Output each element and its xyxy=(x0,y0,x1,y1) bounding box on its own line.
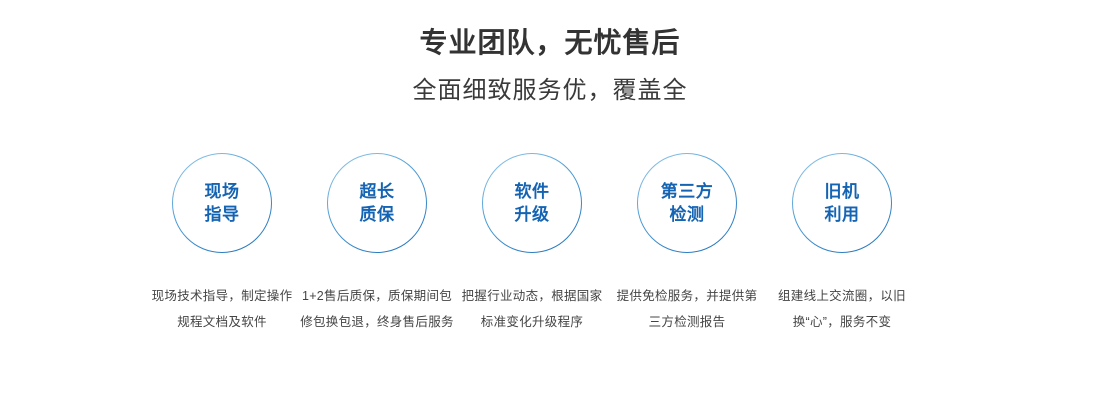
circle-label-3: 软件 升级 xyxy=(515,180,550,226)
caption-text-4: 提供免检服务，并提供第 三方检测报告 xyxy=(600,283,775,335)
feature-circle-item-2[interactable]: 超长 质保 xyxy=(327,153,427,253)
feature-caption-item-3: 把握行业动态，根据国家 标准变化升级程序 xyxy=(445,283,620,335)
circle-outline-1: 现场 指导 xyxy=(172,153,272,253)
feature-circle-item-4[interactable]: 第三方 检测 xyxy=(637,153,737,253)
feature-caption-row: 现场技术指导，制定操作 规程文档及软件 1+2售后质保，质保期间包 修包换包退，… xyxy=(0,283,1100,343)
caption-text-5: 组建线上交流圈，以旧 换“心”，服务不变 xyxy=(755,283,930,335)
heading-block: 专业团队，无忧售后 全面细致服务优，覆盖全 xyxy=(0,0,1100,106)
feature-caption-item-4: 提供免检服务，并提供第 三方检测报告 xyxy=(600,283,775,335)
circle-label-2: 超长 质保 xyxy=(360,180,395,226)
feature-circle-item-5[interactable]: 旧机 利用 xyxy=(792,153,892,253)
page-subtitle: 全面细致服务优，覆盖全 xyxy=(0,76,1100,106)
circle-label-5: 旧机 利用 xyxy=(825,180,860,226)
circle-outline-4: 第三方 检测 xyxy=(637,153,737,253)
circle-outline-3: 软件 升级 xyxy=(482,153,582,253)
page-title: 专业团队，无忧售后 xyxy=(0,26,1100,60)
circle-outline-2: 超长 质保 xyxy=(327,153,427,253)
caption-text-3: 把握行业动态，根据国家 标准变化升级程序 xyxy=(445,283,620,335)
caption-text-2: 1+2售后质保，质保期间包 修包换包退，终身售后服务 xyxy=(290,283,465,335)
feature-caption-item-2: 1+2售后质保，质保期间包 修包换包退，终身售后服务 xyxy=(290,283,465,335)
circle-label-1: 现场 指导 xyxy=(205,180,240,226)
feature-caption-item-1: 现场技术指导，制定操作 规程文档及软件 xyxy=(135,283,310,335)
circle-label-4: 第三方 检测 xyxy=(661,180,714,226)
caption-text-1: 现场技术指导，制定操作 规程文档及软件 xyxy=(135,283,310,335)
circle-outline-5: 旧机 利用 xyxy=(792,153,892,253)
feature-circle-row: 现场 指导 超长 质保 软件 升级 第三方 检测 旧机 利用 xyxy=(0,153,1100,253)
feature-circle-item-3[interactable]: 软件 升级 xyxy=(482,153,582,253)
feature-circle-item-1[interactable]: 现场 指导 xyxy=(172,153,272,253)
after-sales-service-section: 专业团队，无忧售后 全面细致服务优，覆盖全 现场 指导 超长 质保 软件 升级 … xyxy=(0,0,1100,404)
feature-caption-item-5: 组建线上交流圈，以旧 换“心”，服务不变 xyxy=(755,283,930,335)
